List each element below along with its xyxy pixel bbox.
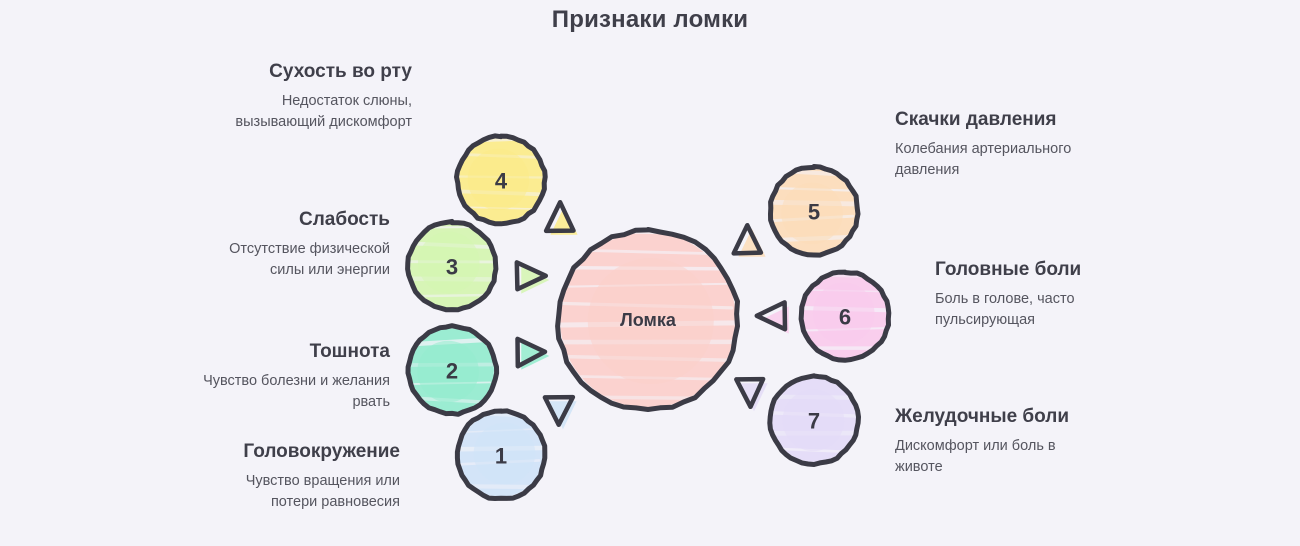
node-description: Отсутствие физической силы или энергии: [200, 239, 390, 280]
node-number-label: 6: [839, 305, 851, 330]
node-label-block-3: СлабостьОтсутствие физической силы или э…: [200, 208, 390, 280]
node-description: Боль в голове, часто пульсирующая: [935, 289, 1125, 330]
hub-label: Ломка: [620, 310, 677, 330]
node-number-label: 4: [495, 169, 508, 194]
node-title: Головные боли: [935, 258, 1125, 282]
node-label-block-4: Сухость во ртуНедостаток слюны, вызывающ…: [222, 60, 412, 132]
node-label-block-7: Желудочные болиДискомфорт или боль в жив…: [895, 405, 1085, 477]
arrow-icon: [546, 202, 578, 235]
arrow-icon: [757, 302, 789, 333]
node-number-label: 2: [446, 359, 458, 384]
node-circle-7[interactable]: 7: [767, 376, 862, 465]
node-title: Скачки давления: [895, 108, 1085, 132]
node-label-block-1: ГоловокружениеЧувство вращения или потер…: [210, 440, 400, 512]
arrow-icon: [545, 397, 577, 429]
node-description: Недостаток слюны, вызывающий дискомфорт: [222, 91, 412, 132]
node-description: Колебания артериального давления: [895, 139, 1085, 180]
node-title: Сухость во рту: [222, 60, 412, 84]
node-title: Желудочные боли: [895, 405, 1085, 429]
hub-node[interactable]: Ломка: [554, 230, 744, 410]
node-title: Головокружение: [210, 440, 400, 464]
arrow-icon: [518, 339, 550, 370]
node-number-label: 3: [446, 255, 458, 280]
node-label-block-5: Скачки давленияКолебания артериального д…: [895, 108, 1085, 180]
node-circle-6[interactable]: 6: [795, 272, 894, 360]
node-number-label: 5: [808, 200, 820, 225]
arrow-icon: [736, 379, 767, 411]
node-label-block-2: ТошнотаЧувство болезни и желания рвать: [200, 340, 390, 412]
arrow-icon: [734, 225, 766, 257]
node-circle-5[interactable]: 5: [765, 167, 859, 256]
node-title: Тошнота: [200, 340, 390, 364]
node-description: Дискомфорт или боль в животе: [895, 436, 1085, 477]
arrow-icon: [517, 262, 550, 293]
node-circle-4[interactable]: 4: [454, 136, 549, 224]
node-circle-2[interactable]: 2: [407, 326, 498, 415]
node-description: Чувство болезни и желания рвать: [200, 371, 390, 412]
node-title: Слабость: [200, 208, 390, 232]
node-circle-1[interactable]: 1: [452, 411, 548, 499]
node-circle-3[interactable]: 3: [405, 221, 502, 309]
infographic-canvas: Признаки ломки 1234567 Ломка Головокруже…: [0, 0, 1300, 546]
node-label-block-6: Головные болиБоль в голове, часто пульси…: [935, 258, 1125, 330]
node-number-label: 7: [808, 409, 820, 434]
node-description: Чувство вращения или потери равновесия: [210, 471, 400, 512]
node-number-label: 1: [495, 444, 507, 469]
